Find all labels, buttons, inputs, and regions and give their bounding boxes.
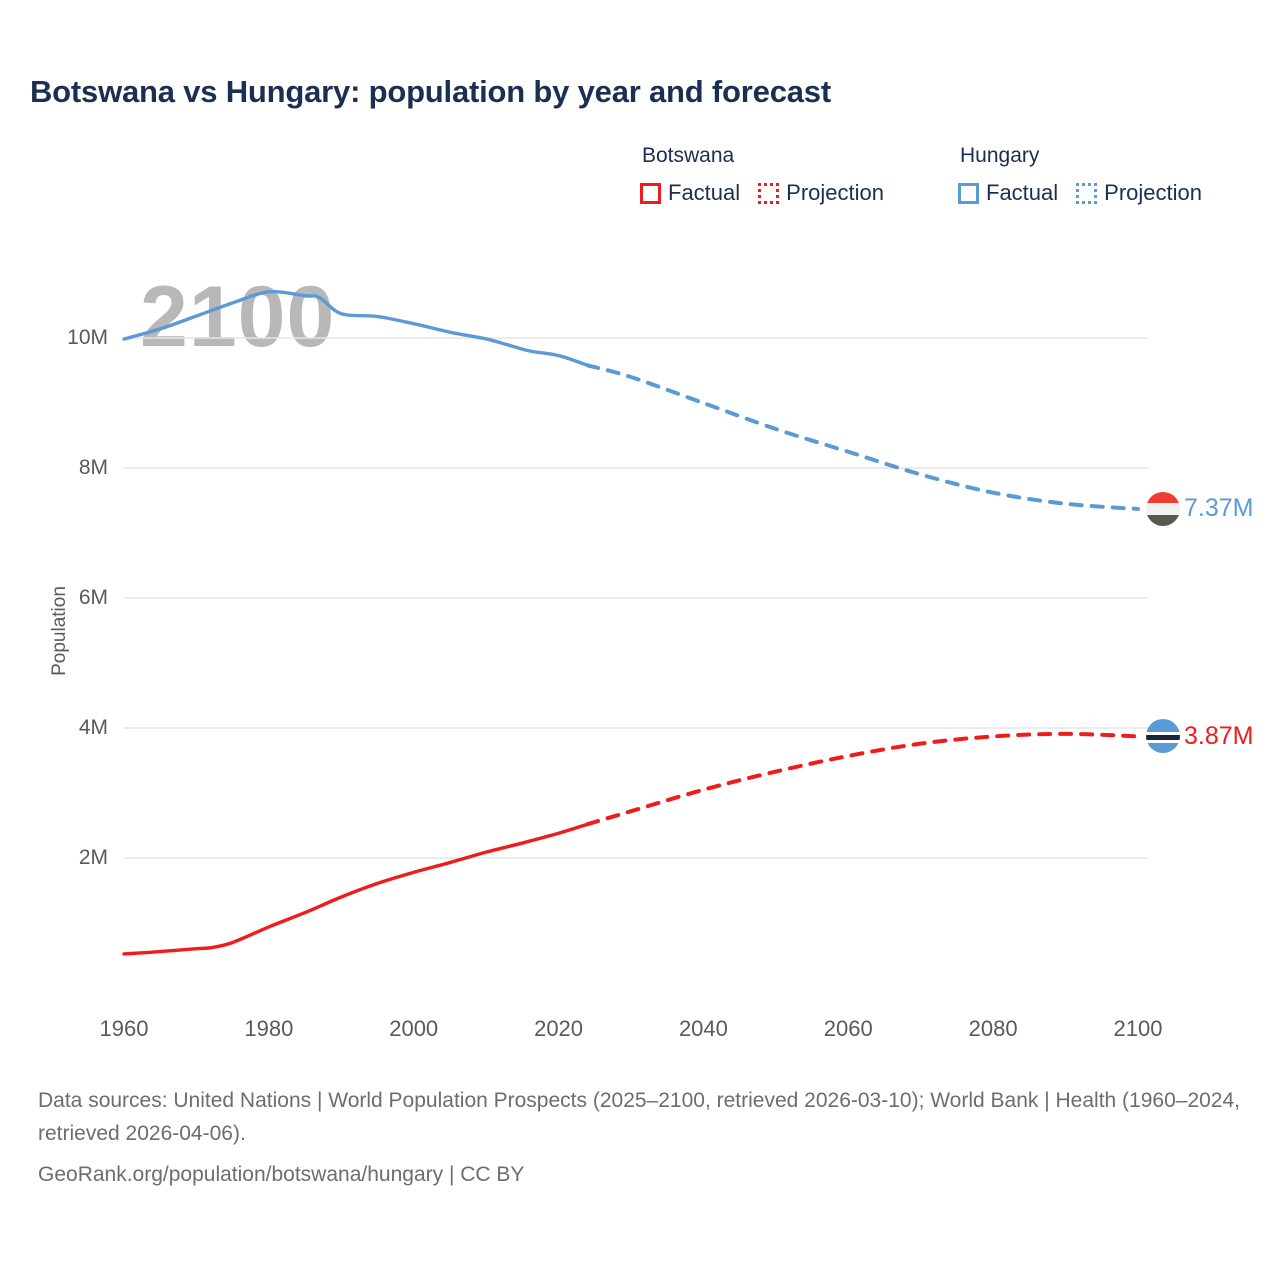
legend-label-botswana-factual: Factual — [668, 180, 740, 206]
legend-swatch-dotted-red-icon — [758, 183, 779, 204]
y-tick-label: 6M — [28, 586, 108, 610]
legend-group-title-botswana: Botswana — [642, 144, 884, 168]
x-tick-label: 2040 — [679, 1016, 728, 1042]
page-title: Botswana vs Hungary: population by year … — [30, 74, 831, 110]
legend-group-botswana: Botswana Factual Projection — [640, 144, 884, 206]
legend-group-hungary: Hungary Factual Projection — [958, 144, 1202, 206]
endpoint-marker-hungary[interactable]: 7.37M — [1146, 492, 1253, 526]
series-lines — [124, 292, 1138, 954]
x-tick-label: 2080 — [969, 1016, 1018, 1042]
footer: Data sources: United Nations | World Pop… — [38, 1084, 1248, 1192]
chart-legend: Botswana Factual Projection Hungary Fact… — [640, 144, 1260, 224]
line-botswana-projection — [588, 734, 1138, 824]
legend-swatch-dotted-blue-icon — [1076, 183, 1097, 204]
footer-link[interactable]: GeoRank.org/population/botswana/hungary … — [38, 1158, 1248, 1191]
legend-item-botswana-projection[interactable]: Projection — [758, 180, 884, 206]
legend-swatch-solid-blue-icon — [958, 183, 979, 204]
y-tick-label: 10M — [28, 326, 108, 350]
x-tick-label: 2020 — [534, 1016, 583, 1042]
legend-item-hungary-projection[interactable]: Projection — [1076, 180, 1202, 206]
line-botswana-factual — [124, 824, 588, 954]
line-hungary-projection — [588, 365, 1138, 509]
footer-sources: Data sources: United Nations | World Pop… — [38, 1084, 1248, 1150]
y-tick-label: 8M — [28, 456, 108, 480]
legend-item-botswana-factual[interactable]: Factual — [640, 180, 740, 206]
chart-container: Botswana vs Hungary: population by year … — [0, 0, 1280, 1280]
legend-group-title-hungary: Hungary — [960, 144, 1202, 168]
x-tick-label: 1960 — [100, 1016, 149, 1042]
hungary-flag-icon — [1146, 492, 1180, 526]
endpoint-marker-botswana[interactable]: 3.87M — [1146, 719, 1253, 753]
x-tick-label: 1980 — [244, 1016, 293, 1042]
y-axis-title: Population — [49, 561, 71, 701]
botswana-flag-icon — [1146, 719, 1180, 753]
year-watermark: 2100 — [140, 268, 335, 367]
y-tick-label: 2M — [28, 846, 108, 870]
endpoint-value-hungary: 7.37M — [1184, 494, 1253, 523]
legend-swatch-solid-red-icon — [640, 183, 661, 204]
legend-item-hungary-factual[interactable]: Factual — [958, 180, 1058, 206]
x-tick-label: 2060 — [824, 1016, 873, 1042]
endpoint-value-botswana: 3.87M — [1184, 722, 1253, 751]
legend-label-hungary-projection: Projection — [1104, 180, 1202, 206]
legend-label-botswana-projection: Projection — [786, 180, 884, 206]
legend-label-hungary-factual: Factual — [986, 180, 1058, 206]
y-tick-label: 4M — [28, 716, 108, 740]
x-tick-label: 2000 — [389, 1016, 438, 1042]
x-tick-label: 2100 — [1114, 1016, 1163, 1042]
gridlines — [124, 338, 1148, 858]
